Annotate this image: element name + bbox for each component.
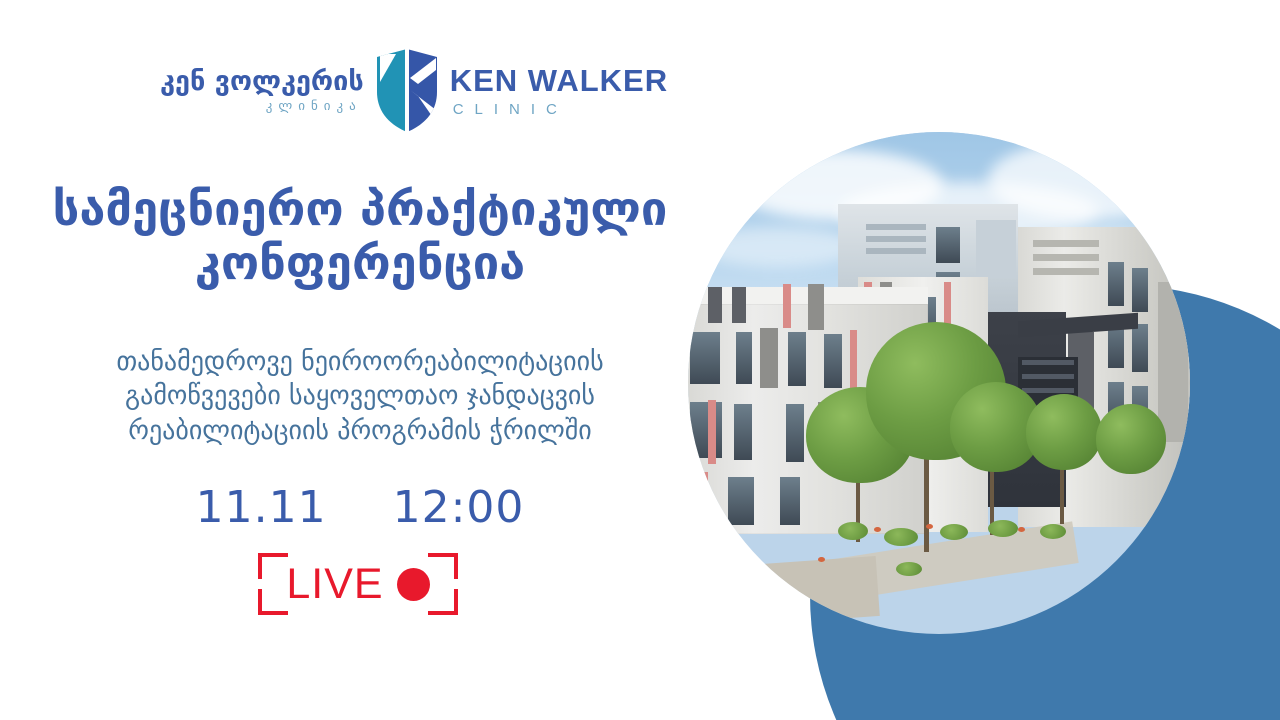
glass-line [1022,374,1074,379]
logo-english-text: KEN WALKER CLINIC [450,65,668,118]
live-badge-content: LIVE [258,553,458,615]
facade-panel [732,287,746,323]
window [786,404,804,462]
window [976,220,1016,278]
louvre [1033,268,1099,275]
window [1132,324,1148,372]
page-title: სამეცნიერო პრაქტიკული კონფერენცია [0,183,720,290]
glass-line [1022,388,1074,393]
event-time: 12:00 [393,482,525,533]
window [1108,262,1124,306]
shrub [1040,524,1066,539]
logo-english-sub: CLINIC [450,101,568,118]
live-badge: LIVE [258,553,458,615]
headline-line-2: კონფერენცია [0,237,720,291]
logo-english-name: KEN WALKER [450,65,668,96]
tree [1026,394,1102,470]
page-subtitle: თანამედროვე ნეიროორეაბილიტაციის გამოწვევ… [0,345,720,448]
tree-trunk [1060,462,1064,524]
window [936,227,960,263]
cloud [988,140,1188,220]
glass-line [1022,360,1074,365]
tree-trunk [924,452,929,552]
logo-georgian-text: კენ ვოლკერის კლინიკა [160,68,364,113]
window [736,332,752,384]
clinic-building-photo [688,132,1190,634]
facade-panel [760,328,778,388]
facade-panel [1158,282,1188,442]
louvre [866,236,926,242]
window [734,404,752,460]
louvre [1033,254,1099,261]
flower [1018,527,1025,532]
event-date: 11.11 [196,482,327,533]
live-label: LIVE [286,563,383,606]
headline-line-1: სამეცნიერო პრაქტიკული [0,183,720,237]
photo-content [688,132,1190,634]
window [1132,268,1148,312]
flower [818,557,825,562]
window [824,334,842,388]
cloud [698,227,858,267]
window [780,477,800,525]
clinic-logo: კენ ვოლკერის კლინიკა [160,48,668,134]
shield-k-logo-icon [374,48,440,134]
logo-georgian-name: კენ ვოლკერის [160,68,364,96]
louvre [866,224,926,230]
shrub [896,562,922,576]
subtitle-line-2: გამოწვევები საყოველთაო ჯანდაცვის [0,379,720,413]
subtitle-line-1: თანამედროვე ნეიროორეაბილიტაციის [0,345,720,379]
flower [874,527,881,532]
facade-panel [708,287,722,323]
shrub [884,528,918,546]
subtitle-line-3: რეაბილიტაციის პროგრამის ჭრილში [0,414,720,448]
record-dot-icon [397,568,430,601]
event-datetime: 11.11 12:00 [0,482,720,533]
window [728,477,754,525]
shrub [838,522,868,540]
flower [926,524,933,529]
shrub [940,524,968,540]
logo-georgian-sub: კლინიკა [266,99,364,114]
louvre [866,248,926,254]
window [788,332,806,386]
tree [1096,404,1166,474]
facade-accent-red [850,330,857,390]
shrub [988,520,1018,537]
conference-announcement-poster: კენ ვოლკერის კლინიკა [0,0,1280,720]
louvre [1033,240,1099,247]
facade-accent-red [783,284,791,328]
facade-panel [808,284,824,330]
